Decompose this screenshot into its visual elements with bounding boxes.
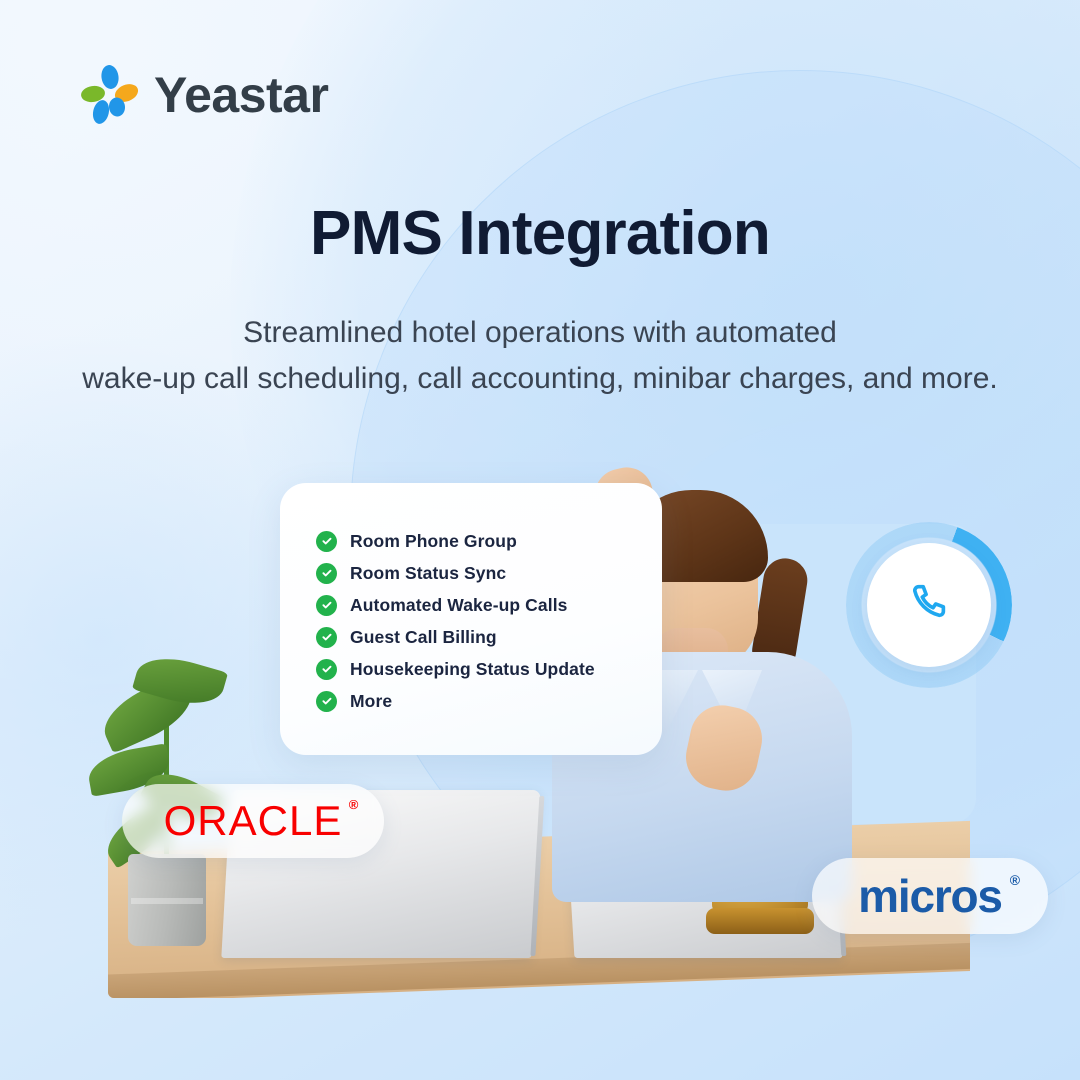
list-item: Room Status Sync (316, 561, 644, 585)
micros-wordmark: micros (858, 870, 1002, 922)
feature-list: Room Phone Group Room Status Sync Automa… (316, 529, 644, 713)
page-subtitle: Streamlined hotel operations with automa… (0, 310, 1080, 401)
list-item: Guest Call Billing (316, 625, 644, 649)
feature-label: More (350, 691, 392, 712)
plant-pot (128, 854, 206, 946)
brand-logo[interactable]: Yeastar (78, 64, 328, 126)
bell-base (706, 908, 814, 934)
check-circle-icon (316, 659, 337, 680)
check-circle-icon (316, 595, 337, 616)
feature-label: Housekeeping Status Update (350, 659, 595, 680)
feature-label: Automated Wake-up Calls (350, 595, 568, 616)
check-circle-icon (316, 531, 337, 552)
phone-feature-badge (846, 522, 1012, 688)
registered-trademark-symbol: ® (1010, 873, 1019, 887)
brand-wordmark: Yeastar (154, 70, 328, 120)
subtitle-line-1: Streamlined hotel operations with automa… (0, 310, 1080, 356)
feature-label: Room Phone Group (350, 531, 517, 552)
subtitle-line-2: wake-up call scheduling, call accounting… (0, 356, 1080, 402)
check-circle-icon (316, 563, 337, 584)
list-item: Automated Wake-up Calls (316, 593, 644, 617)
phone-icon-circle (867, 543, 991, 667)
feature-label: Guest Call Billing (350, 627, 497, 648)
check-circle-icon (316, 627, 337, 648)
oracle-wordmark: ORACLE (164, 797, 343, 844)
promo-graphic: Yeastar PMS Integration Streamlined hote… (0, 0, 1080, 1080)
yeastar-petal-logo-icon (78, 64, 140, 126)
partner-badge-oracle[interactable]: ORACLE® (122, 784, 384, 858)
list-item: Housekeeping Status Update (316, 657, 644, 681)
page-title: PMS Integration (0, 198, 1080, 269)
list-item: More (316, 689, 644, 713)
potted-plant (92, 616, 242, 946)
registered-trademark-symbol: ® (349, 798, 360, 811)
phone-handset-icon (906, 580, 952, 631)
feature-label: Room Status Sync (350, 563, 506, 584)
feature-list-card: Room Phone Group Room Status Sync Automa… (280, 483, 662, 755)
oracle-logo-icon: ORACLE® (164, 800, 343, 842)
micros-logo-icon: micros® (858, 873, 1002, 919)
partner-badge-micros[interactable]: micros® (812, 858, 1048, 934)
list-item: Room Phone Group (316, 529, 644, 553)
check-circle-icon (316, 691, 337, 712)
